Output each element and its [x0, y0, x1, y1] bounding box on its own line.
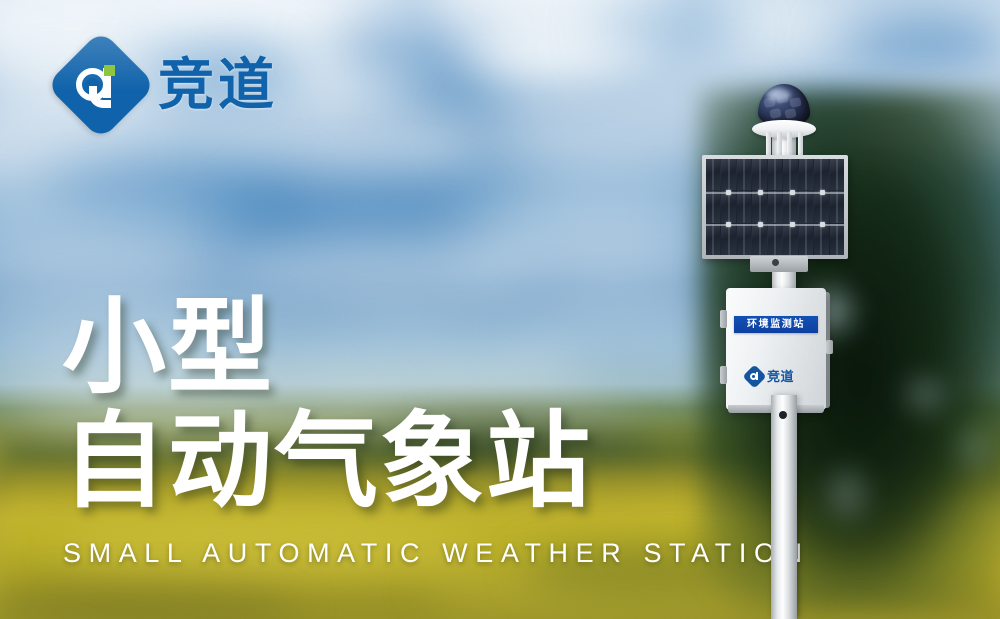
- logo-glyph: [62, 46, 140, 124]
- solar-cell: [706, 159, 720, 190]
- solar-cell: [830, 224, 844, 255]
- control-box-brand-name: 竞道: [767, 370, 794, 383]
- dome-facet: [763, 97, 776, 108]
- solar-node: [758, 222, 763, 227]
- solar-cell: [752, 159, 766, 190]
- control-box-label-banner: 环境监测站: [734, 316, 818, 333]
- tree-light-gap: [960, 430, 990, 466]
- solar-node: [758, 190, 763, 195]
- weather-station-banner: 竞道 小型 自动气象站 SMALL AUTOMATIC WEATHER STAT…: [0, 0, 1000, 619]
- solar-cell: [830, 191, 844, 222]
- control-box-label: 环境监测站: [747, 320, 805, 330]
- solar-cell: [799, 159, 813, 190]
- solar-panel-cells: [706, 159, 844, 255]
- logo-stem-shape-small: [756, 372, 758, 380]
- solar-node: [820, 190, 825, 195]
- dome-facet: [784, 108, 797, 119]
- solar-cell: [768, 159, 782, 190]
- solar-cell: [721, 191, 735, 222]
- solar-cell: [814, 191, 828, 222]
- dome-facet: [789, 97, 802, 108]
- solar-panel: [702, 155, 848, 259]
- control-box-brand-logo: 竞道: [746, 368, 794, 385]
- solar-cell: [737, 191, 751, 222]
- control-box-ear: [826, 340, 833, 354]
- solar-cell: [830, 159, 844, 190]
- solar-cell: [752, 224, 766, 255]
- dome-facet: [776, 93, 789, 104]
- jingdao-diamond-logo-icon: [62, 46, 140, 124]
- logo-green-square: [104, 65, 115, 76]
- solar-cell: [814, 159, 828, 190]
- solar-cell: [799, 224, 813, 255]
- solar-node: [820, 222, 825, 227]
- control-box-ear: [720, 366, 727, 384]
- brand-logo[interactable]: 竞道: [62, 46, 278, 124]
- headline-block: 小型 自动气象站: [62, 296, 592, 514]
- brand-name: 竞道: [158, 57, 278, 113]
- bracket-bolt: [772, 259, 779, 266]
- solar-cell: [737, 224, 751, 255]
- jingdao-diamond-logo-icon-small: [746, 368, 763, 385]
- solar-cell: [721, 159, 735, 190]
- solar-cell: [783, 191, 797, 222]
- solar-cell: [783, 224, 797, 255]
- solar-cell: [814, 224, 828, 255]
- solar-cell: [706, 224, 720, 255]
- solar-cell: [768, 191, 782, 222]
- solar-cell: [737, 159, 751, 190]
- solar-node: [726, 222, 731, 227]
- sky-blue-patch: [330, 15, 480, 85]
- solar-cell: [752, 191, 766, 222]
- solar-cell: [706, 191, 720, 222]
- control-box: 环境监测站 竞道: [726, 288, 826, 410]
- solar-node: [790, 222, 795, 227]
- headline-line-1: 小型: [62, 296, 592, 400]
- solar-cell: [768, 224, 782, 255]
- dome-facet: [769, 108, 782, 119]
- solar-panel-bracket: [750, 256, 808, 272]
- mounting-pole-lower: [771, 395, 797, 619]
- weather-station-device: 环境监测站 竞道: [640, 0, 920, 619]
- pole-bolt: [779, 411, 787, 419]
- solar-node: [726, 190, 731, 195]
- solar-cell: [721, 224, 735, 255]
- solar-node: [790, 190, 795, 195]
- solar-cell: [783, 159, 797, 190]
- control-box-ear: [720, 310, 727, 328]
- headline-line-2: 自动气象站: [62, 410, 592, 514]
- solar-cell: [799, 191, 813, 222]
